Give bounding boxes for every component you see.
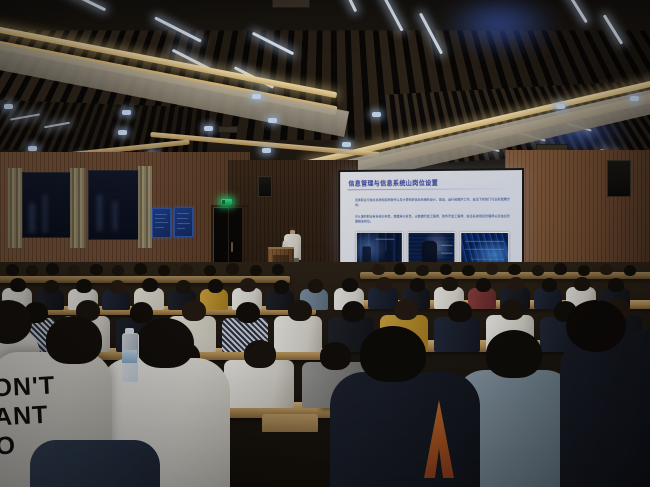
- photo-light-streak: [441, 253, 453, 254]
- slide-title-underline: [348, 188, 515, 190]
- recessed-downlight: [204, 126, 213, 131]
- audience-head: [448, 301, 472, 322]
- audience-head: [500, 299, 524, 320]
- ceiling-slat: [192, 107, 202, 158]
- audience-head: [442, 277, 458, 291]
- audience-head: [308, 279, 323, 293]
- exit-sign: [221, 199, 232, 205]
- poster-text-line: [155, 218, 165, 219]
- audience-head: [410, 278, 425, 292]
- water-bottle-label: [122, 350, 137, 363]
- audience-head: [508, 277, 524, 291]
- ceiling-air-vent: [218, 126, 238, 133]
- audience-head: [372, 264, 385, 275]
- audience-head: [624, 265, 636, 276]
- audience-head: [110, 280, 125, 294]
- audience-head: [376, 277, 392, 291]
- poster-text-line: [177, 218, 188, 219]
- audience-head: [182, 300, 206, 321]
- audience-head: [6, 264, 19, 276]
- window: [22, 172, 72, 238]
- wall-speaker-left: [258, 176, 272, 197]
- audience-head: [142, 278, 158, 292]
- audience-head: [158, 265, 170, 276]
- foreground-person-dark-head: [360, 326, 426, 382]
- window-curtain[interactable]: [70, 168, 86, 248]
- wall-poster-right: [174, 207, 193, 237]
- ceiling-slat: [182, 107, 193, 157]
- audience-head: [394, 263, 406, 275]
- audience-head: [180, 264, 193, 275]
- window-light: [43, 195, 47, 233]
- audience-head: [26, 265, 38, 276]
- audience-head: [76, 279, 92, 293]
- lecture-hall-photo: 信息管理与信息系统山岗位设置 该类职业与信息系统和应用软件以及计算机的信息系统的…: [0, 0, 650, 487]
- audience-head: [320, 342, 351, 370]
- audience-head: [486, 263, 498, 275]
- window-light: [113, 201, 117, 231]
- poster-text-line: [155, 222, 168, 223]
- audience-torso: [274, 316, 322, 352]
- audience-head: [542, 278, 557, 292]
- ceiling-tube-light: [62, 0, 106, 11]
- audience-head: [112, 265, 124, 276]
- audience-head: [10, 278, 26, 292]
- recessed-downlight: [4, 104, 13, 109]
- foreground-person-gray-head: [486, 330, 542, 378]
- recessed-downlight: [630, 96, 639, 101]
- foreground-person-dark-shirt: [330, 372, 480, 487]
- poster-text-line: [177, 228, 185, 229]
- foreground-person-right-edge-head: [566, 300, 626, 352]
- slide-title: 信息管理与信息系统山岗位设置: [348, 177, 512, 187]
- audience-head: [274, 280, 289, 294]
- window-curtain[interactable]: [138, 166, 152, 248]
- audience-head: [44, 280, 59, 294]
- audience-head: [46, 263, 59, 275]
- audience-head: [600, 264, 613, 275]
- window-light: [97, 195, 102, 231]
- audience-head: [240, 278, 256, 292]
- audience-head: [288, 300, 312, 321]
- ceiling-air-vent: [272, 0, 310, 8]
- audience-head: [508, 264, 521, 275]
- recessed-downlight: [268, 118, 277, 123]
- water-bottle-cap: [125, 328, 134, 334]
- recessed-downlight: [28, 146, 37, 151]
- audience-head: [532, 265, 544, 276]
- audience-head: [342, 278, 358, 292]
- audience-head: [134, 263, 147, 275]
- audience-head: [554, 263, 567, 275]
- audience-head: [68, 265, 80, 276]
- poster-text-line: [155, 227, 164, 228]
- ceiling: [0, 0, 650, 172]
- ceiling-tube-light: [380, 0, 403, 32]
- exit-sign-pictogram: [222, 200, 225, 204]
- audience-head: [574, 277, 590, 291]
- audience-head: [226, 263, 239, 275]
- audience-head: [236, 302, 260, 323]
- audience-head: [416, 265, 429, 276]
- audience-head: [440, 264, 452, 275]
- audience-head: [90, 264, 103, 275]
- audience-head: [250, 265, 262, 276]
- ceiling-slat: [359, 31, 372, 140]
- audience-head: [462, 265, 475, 276]
- audience-head: [208, 279, 223, 293]
- audience-head: [176, 280, 191, 294]
- recessed-downlight: [556, 104, 565, 109]
- photo-light-streak: [376, 239, 395, 240]
- seat-back: [262, 414, 318, 432]
- poster-text-line: [155, 214, 167, 215]
- recessed-downlight: [118, 130, 127, 135]
- photo-light-streak: [441, 245, 453, 246]
- photo-light-streak: [471, 259, 504, 260]
- audience-head: [342, 301, 365, 322]
- recessed-downlight: [122, 110, 131, 115]
- recessed-downlight: [372, 112, 381, 117]
- audience-head: [608, 278, 624, 292]
- audience-head: [244, 340, 276, 368]
- audience-head: [476, 278, 491, 292]
- recessed-downlight: [262, 148, 271, 153]
- photo-light-streak: [465, 241, 504, 242]
- window-light: [29, 203, 35, 233]
- poster-text-line: [177, 223, 190, 224]
- window-curtain[interactable]: [8, 168, 22, 248]
- slide-paragraph-1: 该类职业与信息系统和应用软件以及计算机的信息系统的设计、建设、运行和维护工作，是…: [355, 197, 510, 207]
- audience-head: [272, 264, 284, 275]
- audience-head: [130, 302, 153, 323]
- ceiling-tube-light: [564, 0, 588, 23]
- foreground-person-right-edge: [560, 330, 650, 487]
- wall-poster-left: [152, 208, 171, 238]
- foreground-person-bottom-blue: [30, 440, 160, 487]
- foreground-person-right-of-text-head: [136, 318, 194, 368]
- window: [88, 170, 140, 240]
- audience-torso: [434, 317, 480, 352]
- ceiling-tube-light: [339, 0, 357, 12]
- wall-speaker-right: [607, 160, 631, 197]
- slide-paragraph-2: 可从事的职业有系统分析员、数据库分析员、大数据开发工程师、软件开发工程师、信息系…: [355, 214, 510, 224]
- audience-head: [394, 299, 418, 320]
- recessed-downlight: [252, 94, 261, 99]
- foreground-person-head: [46, 316, 102, 364]
- photo-light-streak: [465, 249, 504, 250]
- audience-head: [578, 265, 590, 276]
- recessed-downlight: [342, 142, 351, 147]
- audience-head: [204, 265, 216, 276]
- poster-text-line: [177, 213, 189, 214]
